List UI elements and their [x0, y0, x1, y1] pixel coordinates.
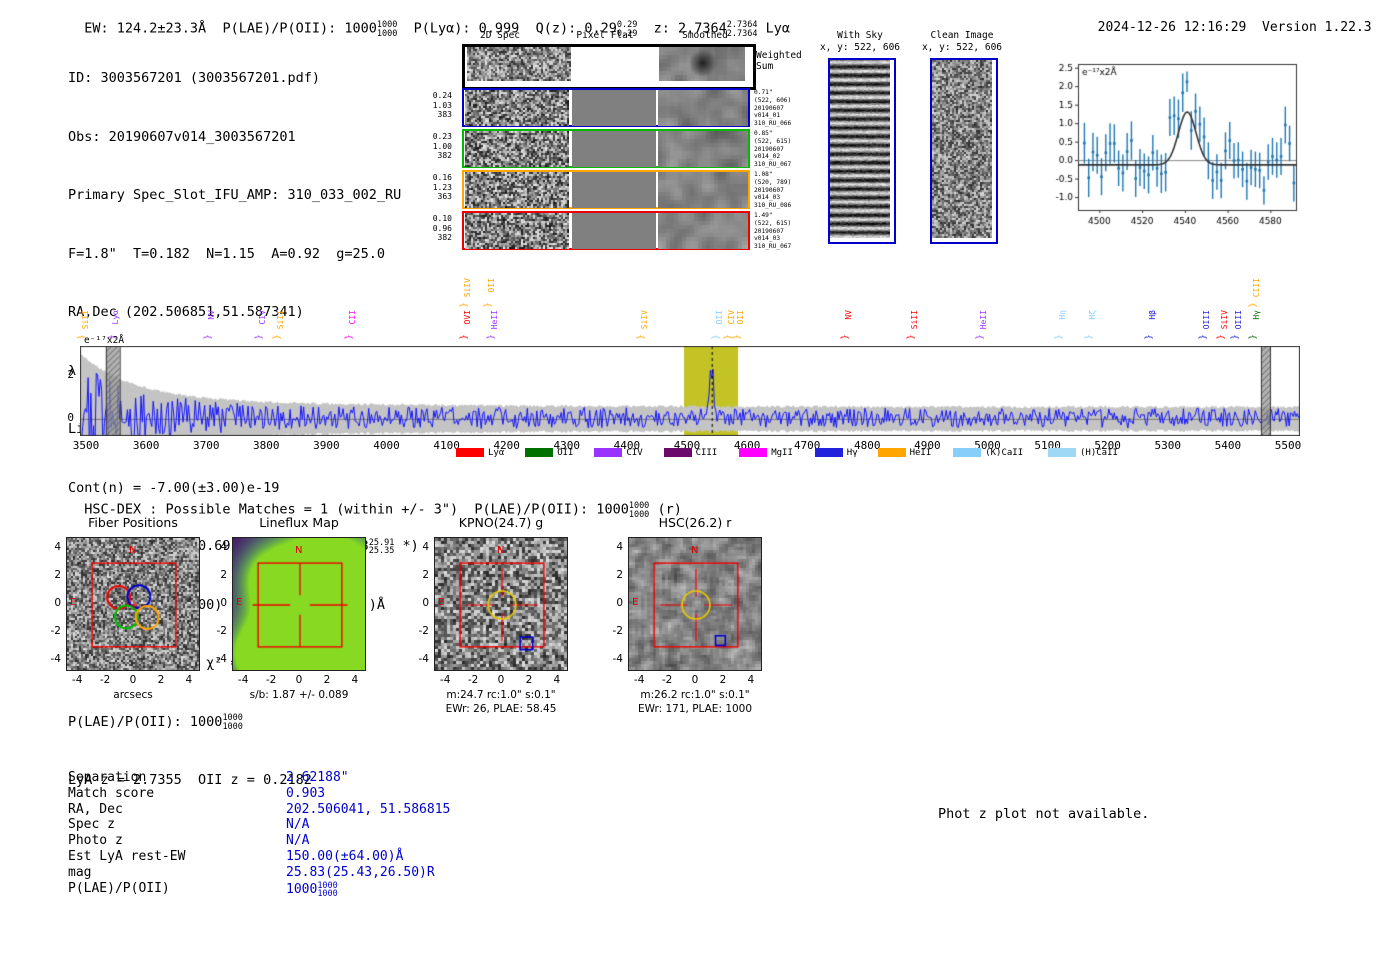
- image-panel-title: Fiber Positions: [66, 515, 200, 530]
- spectrum-y-tick: 0: [56, 411, 74, 424]
- image-y-tick: 0: [207, 597, 227, 609]
- image-x-tick: -2: [657, 674, 677, 686]
- montage-row-meta: 1.08" (520, 789) 20190607 v014_03 310_RU…: [754, 171, 791, 210]
- legend-label: (H)CaII: [1080, 448, 1118, 458]
- spectrum-line-label: SiII: [910, 310, 919, 329]
- image-x-tick: -2: [261, 674, 281, 686]
- legend-item: Lyα: [456, 448, 504, 458]
- spectrum-line-label: NV: [844, 310, 853, 320]
- montage-row-stats: 0.16 1.23 363: [410, 173, 452, 202]
- weighted-sum-label: WeightedSum: [756, 50, 802, 72]
- compass-north: N: [497, 545, 504, 556]
- spectrum-line-label: Hη: [1058, 310, 1067, 320]
- image-x-tick: 2: [151, 674, 171, 686]
- spectrum-line-brace: }: [273, 334, 283, 339]
- match-table-key: mag: [68, 865, 91, 881]
- spectrum-line-brace: }: [483, 302, 493, 307]
- montage-row: [462, 211, 750, 250]
- spectrum-line-brace: }: [345, 334, 355, 339]
- spectrum-line-label: Lyα: [111, 310, 120, 324]
- image-x-tick: 4: [345, 674, 365, 686]
- compass-east: E: [438, 597, 444, 608]
- match-table-key: Spec z: [68, 817, 115, 833]
- image-y-tick: 2: [603, 569, 623, 581]
- legend-label: CIII: [696, 448, 718, 458]
- image-caption-1: s/b: 1.87 +/- 0.089: [218, 689, 380, 702]
- image-y-tick: -2: [409, 625, 429, 637]
- match-table-key: Photo z: [68, 833, 123, 849]
- spectrum-x-tick: 3600: [123, 439, 169, 452]
- spectrum-line-brace: }: [486, 334, 496, 339]
- gmag-fraction: 25.9125.35: [369, 539, 395, 556]
- full-spectrum-plot: [80, 346, 1300, 436]
- spectrum-line-brace: }: [459, 334, 469, 339]
- image-caption-1: m:26.2 rc:1.0" s:0.1": [614, 689, 776, 702]
- compass-east: E: [236, 597, 242, 608]
- legend-item: OII: [525, 448, 573, 458]
- info-radec: RA,Dec (202.506851,51.587341): [68, 303, 419, 323]
- image-y-tick: 4: [409, 541, 429, 553]
- spectrum-line-label: OII: [736, 310, 745, 324]
- montage-row-meta: 0.71" (522, 606) 20190607 v014_01 310_RU…: [754, 89, 791, 128]
- image-y-tick: -2: [41, 625, 61, 637]
- spectrum-line-label: SiIV: [640, 310, 649, 329]
- cutout-clean-title: Clean Image: [912, 30, 1012, 42]
- spectrum-line-label: CIV: [258, 310, 267, 324]
- spectrum-x-tick: 3500: [63, 439, 109, 452]
- spectrum-line-label: OII: [487, 278, 496, 292]
- image-panel-title: HSC(26.2) r: [628, 515, 762, 530]
- image-y-tick: 4: [207, 541, 227, 553]
- montage-row-meta: 1.49" (522, 615) 20190607 v014_03 310_RU…: [754, 212, 791, 251]
- image-x-tick: 0: [491, 674, 511, 686]
- spectrum-y-tick: 2: [56, 368, 74, 381]
- spectrum-line-brace: }: [1054, 334, 1064, 339]
- spectrum-line-brace: }: [459, 302, 469, 307]
- cutout-clean-coords: x, y: 522, 606: [912, 42, 1012, 54]
- compass-east: E: [70, 597, 76, 608]
- spectrum-x-tick: 5500: [1265, 439, 1311, 452]
- spectrum-line-label: Hζ: [1088, 310, 1097, 320]
- spectrum-line-brace: }: [1248, 302, 1258, 307]
- legend-swatch: [878, 448, 906, 457]
- image-y-tick: 0: [41, 597, 61, 609]
- image-y-tick: -2: [603, 625, 623, 637]
- spectrum-line-brace: }: [712, 334, 722, 339]
- legend-item: (H)CaII: [1048, 448, 1118, 458]
- spectrum-line-brace: }: [637, 334, 647, 339]
- compass-north: N: [295, 545, 302, 556]
- image-y-tick: -4: [409, 653, 429, 665]
- match-table-value: 25.83(25.43,26.50)R: [286, 865, 435, 881]
- spectrum-line-brace: }: [204, 334, 214, 339]
- montage-row-stats: 0.23 1.00 382: [410, 132, 452, 161]
- legend-swatch: [664, 448, 692, 457]
- image-x-tick: 2: [519, 674, 539, 686]
- montage-row-stats: 0.24 1.03 383: [410, 91, 452, 120]
- image-y-tick: 2: [409, 569, 429, 581]
- info-id: ID: 3003567201 (3003567201.pdf): [68, 69, 419, 89]
- version-label: Version 1.22.3: [1262, 20, 1372, 35]
- montage-row: [462, 88, 750, 127]
- montage-row: [462, 129, 750, 168]
- spectrum-flux-unit: e⁻¹⁷x2Å: [84, 335, 124, 346]
- legend-item: MgII: [739, 448, 793, 458]
- spectrum-line-brace: }: [1248, 334, 1258, 339]
- image-y-tick: 4: [603, 541, 623, 553]
- timestamp: 2024-12-26 12:16:29: [1098, 20, 1247, 35]
- image-panel-canvas: [66, 537, 200, 671]
- image-panel-canvas: [628, 537, 762, 671]
- spectrum-x-tick: 3900: [303, 439, 349, 452]
- match-table-value: N/A: [286, 833, 309, 849]
- legend-label: CIV: [626, 448, 642, 458]
- match-table-key: Match score: [68, 786, 154, 802]
- spectrum-line-label: CIII: [1252, 278, 1261, 297]
- spectrum-line-label: SiIV: [463, 278, 472, 297]
- legend-item: CIII: [664, 448, 718, 458]
- image-x-tick: 2: [713, 674, 733, 686]
- spectrum-line-label: OIII: [1202, 310, 1211, 329]
- image-caption-2: EWr: 171, PLAE: 1000: [614, 703, 776, 716]
- spectrum-line-brace: }: [1199, 334, 1209, 339]
- spectrum-line-label: CIV: [727, 310, 736, 324]
- image-x-tick: 0: [123, 674, 143, 686]
- image-y-tick: -4: [41, 653, 61, 665]
- legend-item: Hγ: [815, 448, 858, 458]
- spectrum-line-label: OII: [715, 310, 724, 324]
- match-plae-fraction: 10001000: [317, 882, 337, 899]
- info-obs: Obs: 20190607v014_3003567201: [68, 128, 419, 148]
- spectrum-line-brace: }: [1084, 334, 1094, 339]
- image-panel-canvas: [434, 537, 568, 671]
- legend-label: MgII: [771, 448, 793, 458]
- spectrum-line-label: HeII: [490, 310, 499, 329]
- image-x-tick: 0: [685, 674, 705, 686]
- image-x-tick: -2: [95, 674, 115, 686]
- spectrum-line-label: Hγ: [1252, 310, 1261, 320]
- image-y-tick: -2: [207, 625, 227, 637]
- image-x-tick: -4: [67, 674, 87, 686]
- legend-item: (K)CaII: [953, 448, 1023, 458]
- legend-swatch: [525, 448, 553, 457]
- spectrum-line-label: NV: [207, 310, 216, 320]
- image-y-tick: 0: [409, 597, 429, 609]
- photz-note: Phot z plot not available.: [938, 806, 1149, 822]
- spectrum-x-tick: 4000: [364, 439, 410, 452]
- hscdex-header: HSC-DEX : Possible Matches = 1 (within +…: [68, 485, 682, 518]
- image-x-tick: 4: [179, 674, 199, 686]
- image-x-tick: -2: [463, 674, 483, 686]
- image-x-tick: -4: [233, 674, 253, 686]
- match-table-value: N/A: [286, 817, 309, 833]
- legend-label: Hγ: [847, 448, 858, 458]
- cutout-with-sky-title: With Sky: [812, 30, 908, 42]
- legend-swatch: [739, 448, 767, 457]
- spectrum-x-tick: 3800: [243, 439, 289, 452]
- legend-swatch: [594, 448, 622, 457]
- image-x-tick: 4: [741, 674, 761, 686]
- legend-label: (K)CaII: [985, 448, 1023, 458]
- match-table-value: 150.00(±64.00)Å: [286, 849, 403, 865]
- legend-label: Lyα: [488, 448, 504, 458]
- match-table-value: 2.62188": [286, 770, 349, 786]
- legend-label: HeII: [910, 448, 932, 458]
- image-y-tick: 2: [207, 569, 227, 581]
- info-primary-spec: Primary Spec_Slot_IFU_AMP: 310_033_002_R…: [68, 186, 419, 206]
- image-caption-1: m:24.7 rc:1.0" s:0.1": [420, 689, 582, 702]
- image-y-tick: 0: [603, 597, 623, 609]
- spectrum-line-label: SiII: [81, 310, 90, 329]
- spectrum-line-label: Hβ: [1148, 310, 1157, 320]
- spectrum-line-label: SiII: [276, 310, 285, 329]
- legend-swatch: [815, 448, 843, 457]
- spectrum-line-label: OIII: [1234, 310, 1243, 329]
- match-table-key: RA, Dec: [68, 802, 123, 818]
- image-x-tick: 4: [547, 674, 567, 686]
- emission-line-profile-plot: [1034, 52, 1306, 244]
- image-x-tick: 0: [289, 674, 309, 686]
- header-timestamp-version: 2024-12-26 12:16:29 Version 1.22.3: [1082, 5, 1372, 35]
- montage-col-title-smoothed: Smoothed: [665, 30, 745, 41]
- spectrum-line-label: SiIV: [1220, 310, 1229, 329]
- montage-row-meta: 0.85" (522, 615) 20190607 v014_02 310_RU…: [754, 130, 791, 169]
- image-panel-title: KPNO(24.7) g: [434, 515, 568, 530]
- spectrum-x-tick: 3700: [183, 439, 229, 452]
- image-panel-canvas: [232, 537, 366, 671]
- spectrum-line-brace: }: [255, 334, 265, 339]
- image-caption-2: EWr: 26, PLAE: 58.45: [420, 703, 582, 716]
- image-x-tick: 2: [317, 674, 337, 686]
- match-table-key: Separation: [68, 770, 146, 786]
- legend-swatch: [456, 448, 484, 457]
- montage-row: [462, 170, 750, 209]
- spectra-montage: 2D Spec Pixel Flat Smoothed WeightedSum …: [420, 30, 810, 250]
- match-table-value: 0.903: [286, 786, 325, 802]
- legend-swatch: [953, 448, 981, 457]
- match-table-key: Est LyA rest-EW: [68, 849, 185, 865]
- spectrum-line-brace: }: [907, 334, 917, 339]
- spectrum-line-brace: }: [733, 334, 743, 339]
- legend-swatch: [1048, 448, 1076, 457]
- legend-label: OII: [557, 448, 573, 458]
- cutout-with-sky-coords: x, y: 522, 606: [812, 42, 908, 54]
- image-panel-title: Lineflux Map: [232, 515, 366, 530]
- montage-col-title-pixelflat: Pixel Flat: [565, 30, 645, 41]
- spectrum-line-brace: }: [976, 334, 986, 339]
- spectrum-line-brace: }: [841, 334, 851, 339]
- image-x-tick: -4: [435, 674, 455, 686]
- compass-north: N: [129, 545, 136, 556]
- image-y-tick: 2: [41, 569, 61, 581]
- image-x-label: arcsecs: [66, 689, 200, 702]
- compass-north: N: [691, 545, 698, 556]
- spectrum-line-label: OVI: [463, 310, 472, 324]
- match-table-key: P(LAE)/P(OII): [68, 881, 170, 897]
- match-table-value: 100010001000: [286, 881, 338, 898]
- legend-item: HeII: [878, 448, 932, 458]
- spectrum-x-tick: 5300: [1145, 439, 1191, 452]
- info-params: F=1.8" T=0.182 N=1.15 A=0.92 g=25.0: [68, 245, 419, 265]
- spectrum-line-label: CII: [348, 310, 357, 324]
- match-table-value: 202.506041, 51.586815: [286, 802, 450, 818]
- image-y-tick: -4: [207, 653, 227, 665]
- legend-item: CIV: [594, 448, 642, 458]
- image-y-tick: 4: [41, 541, 61, 553]
- spectrum-x-tick: 5400: [1205, 439, 1251, 452]
- weighted-sum-strip: [462, 44, 756, 90]
- image-x-tick: -4: [629, 674, 649, 686]
- image-y-tick: -4: [603, 653, 623, 665]
- info-plae: P(LAE)/P(OII): 100010001000: [68, 713, 419, 733]
- montage-col-title-2dspec: 2D Spec: [460, 30, 540, 41]
- spectrum-line-brace: }: [1230, 334, 1240, 339]
- montage-row-stats: 0.10 0.96 382: [410, 214, 452, 243]
- compass-east: E: [632, 597, 638, 608]
- spectrum-line-brace: }: [1144, 334, 1154, 339]
- spectrum-line-brace: }: [1217, 334, 1227, 339]
- info-plae-fraction: 10001000: [222, 714, 242, 731]
- spectrum-line-label: HeII: [979, 310, 988, 329]
